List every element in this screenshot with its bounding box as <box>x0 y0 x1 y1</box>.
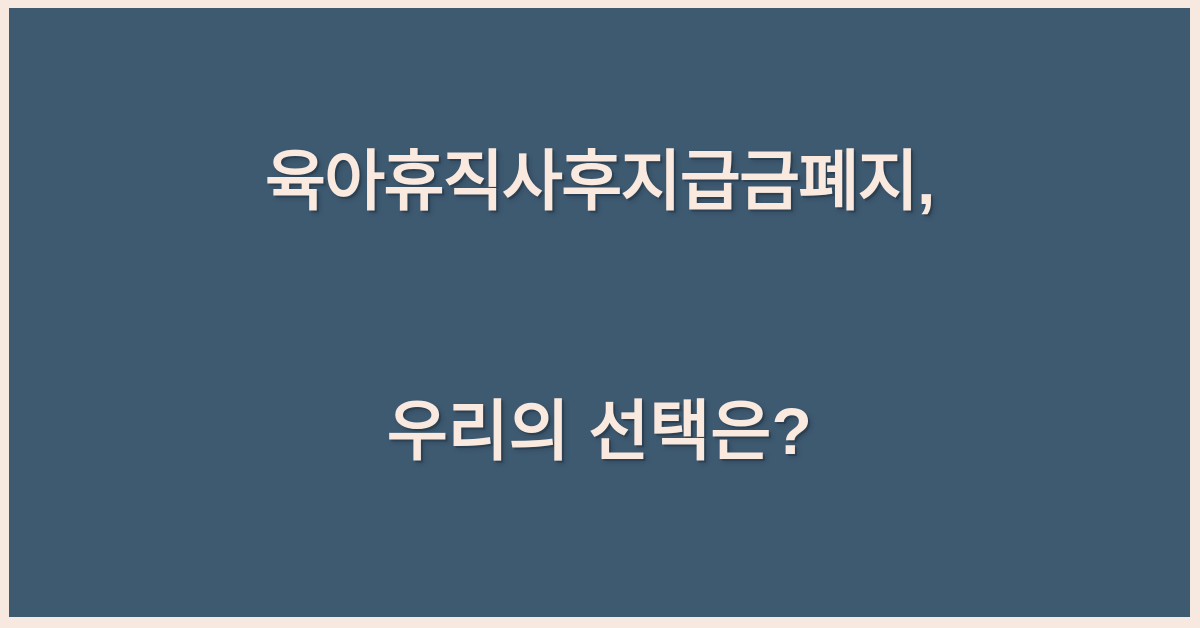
headline-line-1: 육아휴직사후지급금폐지, <box>9 140 1190 223</box>
thumbnail-card: 육아휴직사후지급금폐지, 우리의 선택은? <box>0 0 1200 628</box>
headline-text-block: 육아휴직사후지급금폐지, 우리의 선택은? <box>9 0 1190 628</box>
headline-line-2: 우리의 선택은? <box>9 390 1190 473</box>
card-inner-panel: 육아휴직사후지급금폐지, 우리의 선택은? <box>9 8 1190 617</box>
